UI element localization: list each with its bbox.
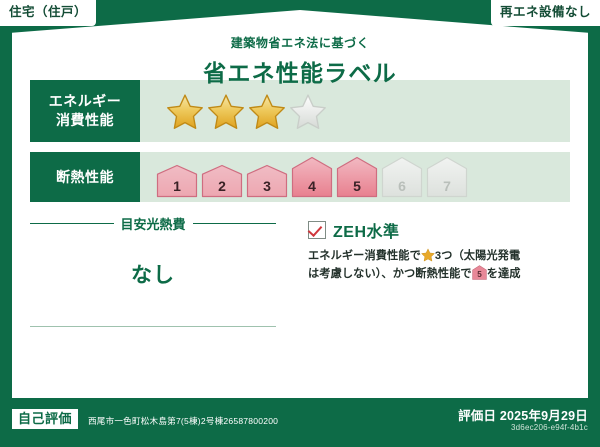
star-empty-icon [289, 93, 327, 130]
insulation-level-badge: 7 [426, 156, 468, 198]
insulation-level-number: 4 [291, 178, 333, 194]
inline-house-level-icon: 5 [472, 265, 487, 280]
insulation-label-text: 断熱性能 [56, 168, 114, 187]
insulation-level-number: 2 [201, 178, 243, 194]
label-subtitle: 建築物省エネ法に基づく [0, 34, 600, 51]
insulation-level-badge: 3 [246, 164, 288, 198]
energy-label-line1: エネルギー [49, 92, 122, 111]
label-body: エネルギー 消費性能 断熱性能 1234567 目安光熱費 なし [12, 68, 588, 395]
zeh-desc-part1: エネルギー消費性能で [308, 250, 421, 262]
rule-right [193, 223, 277, 224]
zeh-heading: ZEH水準 [308, 218, 574, 242]
zeh-desc-part2: は考慮しない）、かつ断熱性能で [308, 268, 472, 280]
energy-performance-row: エネルギー 消費性能 [30, 80, 570, 142]
energy-performance-value [140, 80, 570, 142]
insulation-performance-row: 断熱性能 1234567 [30, 152, 570, 202]
evaluation-date: 評価日 2025年9月29日 [458, 405, 588, 424]
footer-divider [12, 395, 588, 398]
energy-label-root: 住宅（住戸） 再エネ設備なし 建築物省エネ法に基づく 省エネ性能ラベル エネルギ… [0, 0, 600, 447]
insulation-level-badge: 4 [291, 156, 333, 198]
insulation-level-badge: 1 [156, 164, 198, 198]
zeh-desc-stars: 3つ（太陽光発電 [435, 250, 520, 262]
evaluation-uuid: 3d6ec206-e94f-4b1c [511, 423, 588, 432]
zeh-checkbox-icon [308, 221, 326, 239]
star-filled-icon [248, 93, 286, 130]
insulation-performance-label: 断熱性能 [30, 152, 140, 202]
zeh-title: ZEH水準 [333, 218, 400, 242]
insulation-level-badge: 5 [336, 156, 378, 198]
utility-cost-divider [30, 326, 276, 327]
energy-label-line2: 消費性能 [56, 111, 114, 130]
zeh-desc-part3: を達成 [487, 268, 521, 280]
inline-house-level-number: 5 [477, 270, 482, 279]
rule-left [30, 223, 114, 224]
insulation-level-number: 5 [336, 178, 378, 194]
zeh-block: ZEH水準 エネルギー消費性能で3つ（太陽光発電 は考慮しない）、かつ断熱性能で… [308, 218, 574, 284]
star-filled-icon [207, 93, 245, 130]
utility-cost-heading-text: 目安光熱費 [121, 214, 186, 233]
insulation-level-badge: 2 [201, 164, 243, 198]
utility-cost-heading: 目安光熱費 [30, 214, 276, 233]
insulation-level-badge: 6 [381, 156, 423, 198]
star-rating [166, 93, 330, 130]
utility-cost-block: 目安光熱費 なし [30, 214, 276, 289]
label-footer: 自己評価 西尾市一色町松木島第7(5棟)2号棟26587800200 評価日 2… [0, 395, 600, 447]
insulation-level-number: 3 [246, 178, 288, 194]
self-evaluation-badge: 自己評価 [12, 409, 78, 429]
insulation-level-number: 7 [426, 178, 468, 194]
zeh-description: エネルギー消費性能で3つ（太陽光発電 は考慮しない）、かつ断熱性能で5を達成 [308, 248, 574, 284]
star-filled-icon [166, 93, 204, 130]
insulation-level-number: 1 [156, 178, 198, 194]
building-type-tag: 住宅（住戸） [0, 0, 96, 26]
insulation-level-scale: 1234567 [156, 156, 468, 198]
title-block: 建築物省エネ法に基づく 省エネ性能ラベル [0, 34, 600, 88]
property-address: 西尾市一色町松木島第7(5棟)2号棟26587800200 [88, 415, 278, 427]
insulation-performance-value: 1234567 [140, 152, 570, 202]
label-title: 省エネ性能ラベル [0, 54, 600, 88]
inline-star-icon [421, 248, 435, 262]
energy-performance-label: エネルギー 消費性能 [30, 80, 140, 142]
utility-cost-value: なし [30, 259, 276, 289]
renewable-energy-tag: 再エネ設備なし [491, 0, 600, 26]
insulation-level-number: 6 [381, 178, 423, 194]
